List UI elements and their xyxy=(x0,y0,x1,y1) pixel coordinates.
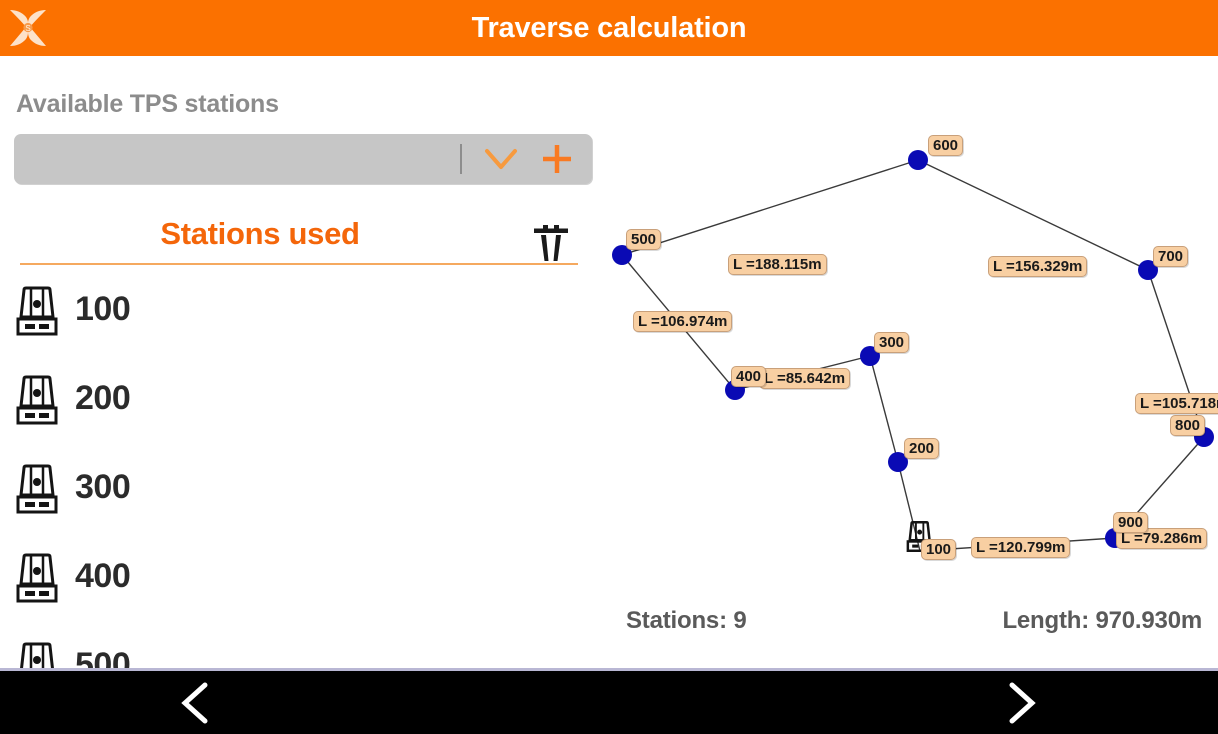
traverse-leg xyxy=(870,356,898,462)
traverse-map[interactable]: L =85.642mL =106.974mL =188.115mL =156.3… xyxy=(600,56,1218,670)
map-status-row: Stations: 9 Length: 970.930m xyxy=(600,599,1218,647)
stations-used-list[interactable]: 100 200 300 xyxy=(0,276,600,670)
list-item-label: 500 xyxy=(75,646,130,670)
list-item-label: 400 xyxy=(75,557,130,596)
available-stations-label: Available TPS stations xyxy=(16,90,279,119)
station-name-label: 500 xyxy=(626,229,661,250)
list-item[interactable]: 100 xyxy=(0,276,600,365)
list-item[interactable]: 400 xyxy=(0,543,600,632)
chevron-down-icon[interactable] xyxy=(480,142,522,176)
stations-sidebar: Available TPS stations Stations used xyxy=(0,56,600,670)
total-length: Length: 970.930m xyxy=(1002,607,1202,635)
segment-length-label: L =105.718m xyxy=(1135,393,1218,414)
stations-used-title: Stations used xyxy=(0,216,520,252)
list-item-label: 200 xyxy=(75,379,130,418)
available-stations-select[interactable] xyxy=(14,134,592,184)
plus-icon[interactable] xyxy=(538,140,576,178)
station-name-label: 100 xyxy=(921,539,956,560)
station-node[interactable] xyxy=(908,150,928,170)
station-name-label: 200 xyxy=(904,438,939,459)
list-item-label: 300 xyxy=(75,468,130,507)
station-name-label: 400 xyxy=(731,366,766,387)
station-name-label: 300 xyxy=(874,332,909,353)
total-station-icon xyxy=(15,642,59,670)
station-name-label: 700 xyxy=(1153,246,1188,267)
list-item[interactable]: 200 xyxy=(0,365,600,454)
app-header: S Traverse calculation xyxy=(0,0,1218,56)
total-station-icon xyxy=(15,286,59,338)
stations-count: Stations: 9 xyxy=(626,607,746,635)
trash-icon[interactable] xyxy=(527,220,575,264)
segment-length-label: L =120.799m xyxy=(971,537,1070,558)
segment-length-label: L =156.329m xyxy=(988,256,1087,277)
bottom-nav-bar xyxy=(0,671,1218,734)
station-name-label: 600 xyxy=(928,135,963,156)
page-title: Traverse calculation xyxy=(0,0,1218,56)
total-station-icon xyxy=(15,553,59,605)
list-item[interactable]: 300 xyxy=(0,454,600,543)
traverse-leg xyxy=(918,160,1148,270)
segment-length-label: L =188.115m xyxy=(728,254,827,275)
total-station-icon xyxy=(15,375,59,427)
segment-length-label: L =85.642m xyxy=(759,368,850,389)
chevron-right-icon[interactable] xyxy=(988,679,1052,727)
traverse-leg xyxy=(622,160,918,255)
list-item[interactable]: 500 xyxy=(0,632,600,670)
station-name-label: 900 xyxy=(1113,512,1148,533)
station-name-label: 800 xyxy=(1170,415,1205,436)
chevron-left-icon[interactable] xyxy=(165,679,229,727)
list-item-label: 100 xyxy=(75,290,130,329)
section-divider xyxy=(20,263,578,265)
select-divider xyxy=(460,144,462,174)
segment-length-label: L =106.974m xyxy=(633,311,732,332)
total-station-icon xyxy=(15,464,59,516)
